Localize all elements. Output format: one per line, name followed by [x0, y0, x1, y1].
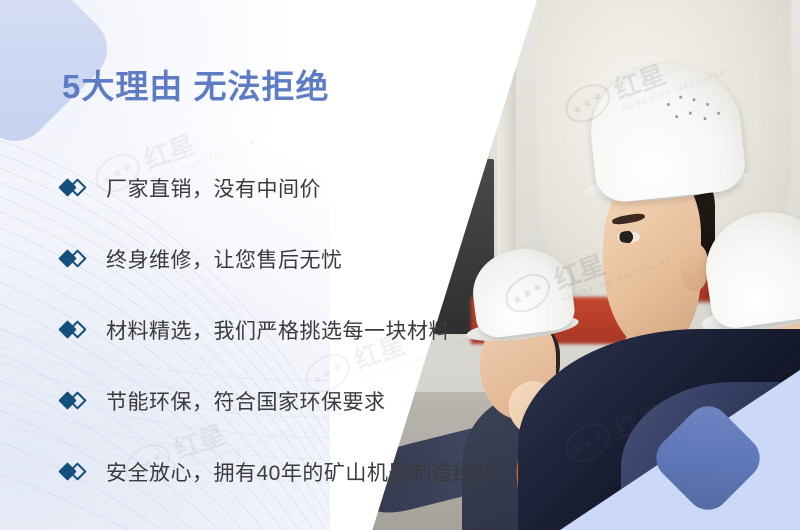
list-item-label: 安全放心，拥有40年的矿山机器制造经验: [106, 457, 496, 487]
diamond-bullet-icon: [60, 249, 92, 269]
diamond-bullet-icon: [60, 391, 92, 411]
reasons-list: 厂家直销，没有中间价 终身维修，让您售后无忧 材料精选，我们严格挑选每一块材料 …: [60, 152, 580, 507]
list-item-label: 材料精选，我们严格挑选每一块材料: [106, 315, 450, 345]
headline: 5大理由 无法拒绝: [62, 60, 330, 108]
list-item-label: 节能环保，符合国家环保要求: [106, 386, 386, 416]
list-item: 节能环保，符合国家环保要求: [60, 365, 580, 436]
list-item: 材料精选，我们严格挑选每一块材料: [60, 294, 580, 365]
list-item-label: 终身维修，让您售后无忧: [106, 244, 343, 274]
list-item: 厂家直销，没有中间价: [60, 152, 580, 223]
content-column: 5大理由 无法拒绝 厂家直销，没有中间价 终身维修，让您售后无忧 材料精选，我们…: [0, 0, 430, 530]
list-item-label: 厂家直销，没有中间价: [106, 173, 321, 203]
list-item: 安全放心，拥有40年的矿山机器制造经验: [60, 436, 580, 507]
diamond-bullet-icon: [60, 320, 92, 340]
diamond-bullet-icon: [60, 462, 92, 482]
list-item: 终身维修，让您售后无忧: [60, 223, 580, 294]
promo-banner: ★★★ 红星 HONGXING MACHINERY ★★★ 红星 HONGXIN…: [0, 0, 800, 530]
diamond-bullet-icon: [60, 178, 92, 198]
